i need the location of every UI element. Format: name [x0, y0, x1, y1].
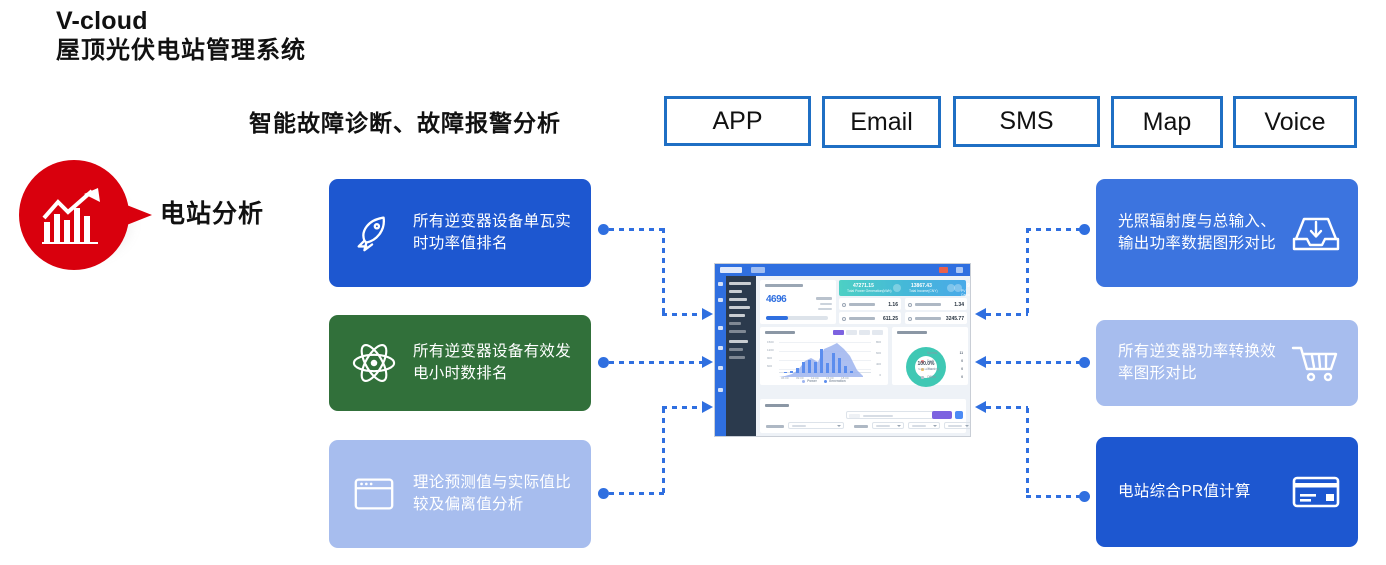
device-status-sublabel: Normal Rate — [906, 367, 946, 371]
generation-power-chart-panel: 1500 1200 900 600 800 600 400 0 — [760, 327, 888, 385]
kpi-cell-2: 1.34 — [905, 298, 967, 310]
device-status-panel: 100.0% Normal Rate Normal11 Fault0 Warni… — [892, 327, 968, 385]
card-inverter-efficiency-comparison[interactable]: 所有逆变器功率转换效率图形对比 — [1096, 320, 1358, 406]
atom-icon — [351, 340, 397, 386]
location-select-1[interactable] — [872, 422, 904, 429]
kpi-region: 4696 47271.15 Total Power Generation(kWh… — [760, 280, 966, 324]
browser-window-icon — [351, 471, 397, 517]
dashboard-tab[interactable] — [751, 267, 765, 273]
card-label: 光照辐射度与总输入、输出功率数据图形对比 — [1118, 211, 1280, 255]
notification-channel-row: APP Email SMS Map Voice — [664, 96, 1357, 148]
brand-title: V-cloud — [56, 6, 306, 36]
slide-canvas: V-cloud 屋顶光伏电站管理系统 智能故障诊断、故障报警分析 APP Ema… — [0, 0, 1386, 565]
title-block: V-cloud 屋顶光伏电站管理系统 — [56, 6, 306, 66]
inbox-download-icon — [1290, 211, 1342, 255]
card-theoretical-vs-actual-analysis[interactable]: 理论预测值与实际值比较及偏离值分析 — [329, 440, 591, 548]
analysis-badge — [8, 160, 183, 285]
channel-button-email[interactable]: Email — [822, 96, 941, 148]
legend-power: Power — [807, 379, 817, 383]
legend-generation: Generation — [829, 379, 846, 383]
search-input[interactable] — [846, 411, 936, 419]
dashboard-screenshot[interactable]: 4696 47271.15 Total Power Generation(kWh… — [714, 263, 971, 437]
filter-label-location — [854, 425, 868, 428]
search-button[interactable] — [932, 411, 952, 419]
location-select-2[interactable] — [908, 422, 940, 429]
dashboard-user-icon[interactable] — [956, 267, 963, 273]
dashboard-content: 4696 47271.15 Total Power Generation(kWh… — [756, 276, 970, 436]
plant-list-toolbar — [760, 399, 966, 433]
kpi-cell-1-value: 1.16 — [888, 302, 898, 308]
bar-chart-growth-icon — [42, 188, 106, 244]
kpi-unit-total-income: Total Income(CNY) — [909, 289, 938, 293]
dashboard-topbar — [715, 264, 970, 276]
classification-select[interactable] — [788, 422, 844, 429]
channel-button-app[interactable]: APP — [664, 96, 811, 146]
device-status-title — [897, 331, 927, 334]
credit-card-icon — [1290, 470, 1342, 514]
card-label: 所有逆变器设备单瓦实时功率值排名 — [413, 211, 577, 255]
chart-legend: Power Generation — [767, 379, 881, 383]
shopping-cart-icon — [1290, 341, 1342, 385]
kpi-cell-3: 611.25 — [839, 312, 901, 324]
dashboard-icon-rail — [715, 276, 726, 436]
rocket-icon — [351, 210, 397, 256]
card-inverter-realtime-power-rank[interactable]: 所有逆变器设备单瓦实时功率值排名 — [329, 179, 591, 287]
power-output-today-card: 4696 — [760, 280, 836, 324]
page-subtitle: 智能故障诊断、故障报警分析 — [249, 104, 561, 138]
kpi-unit-pv-capacity: PV Capacity(kWp) — [961, 289, 971, 297]
chart-title — [765, 331, 795, 334]
channel-button-sms[interactable]: SMS — [953, 96, 1100, 147]
channel-button-voice[interactable]: Voice — [1233, 96, 1357, 148]
system-name-title: 屋顶光伏电站管理系统 — [56, 36, 306, 66]
card-label: 所有逆变器设备有效发电小时数排名 — [413, 341, 577, 385]
card-label: 电站综合PR值计算 — [1118, 481, 1251, 503]
filter-toggle-button[interactable] — [955, 411, 963, 419]
plant-list-title — [765, 404, 789, 407]
location-select-3[interactable] — [944, 422, 971, 429]
channel-button-map[interactable]: Map — [1111, 96, 1223, 148]
dashboard-alert-icon[interactable] — [939, 267, 948, 273]
card-irradiance-power-comparison[interactable]: 光照辐射度与总输入、输出功率数据图形对比 — [1096, 179, 1358, 287]
device-status-legend-offline: Offline0 — [921, 373, 963, 381]
chart-range-buttons[interactable] — [833, 330, 883, 335]
dashboard-sidebar — [726, 276, 756, 436]
kpi-banner: 47271.15 Total Power Generation(kWh) 138… — [839, 280, 966, 296]
device-status-legend-normal: Normal11 — [921, 349, 963, 357]
kpi-cell-3-value: 611.25 — [883, 316, 898, 322]
card-station-pr-calculation[interactable]: 电站综合PR值计算 — [1096, 437, 1358, 547]
kpi-cell-2-value: 1.34 — [954, 302, 964, 308]
card-label: 理论预测值与实际值比较及偏离值分析 — [413, 472, 577, 516]
kpi-unit-total-generation: Total Power Generation(kWh) — [847, 289, 891, 293]
kpi-cell-4: 3245.77 — [905, 312, 967, 324]
power-output-today-value: 4696 — [766, 294, 786, 305]
filter-label-classification — [766, 425, 784, 428]
kpi-cell-4-value: 3245.77 — [946, 316, 964, 322]
chart-plot-area: 1500 1200 900 600 800 600 400 0 — [767, 340, 881, 374]
dashboard-logo — [720, 267, 742, 273]
kpi-cell-1: 1.16 — [839, 298, 901, 310]
analysis-badge-label: 电站分析 — [160, 194, 264, 230]
card-inverter-effective-hours-rank[interactable]: 所有逆变器设备有效发电小时数排名 — [329, 315, 591, 411]
card-label: 所有逆变器功率转换效率图形对比 — [1118, 341, 1280, 385]
